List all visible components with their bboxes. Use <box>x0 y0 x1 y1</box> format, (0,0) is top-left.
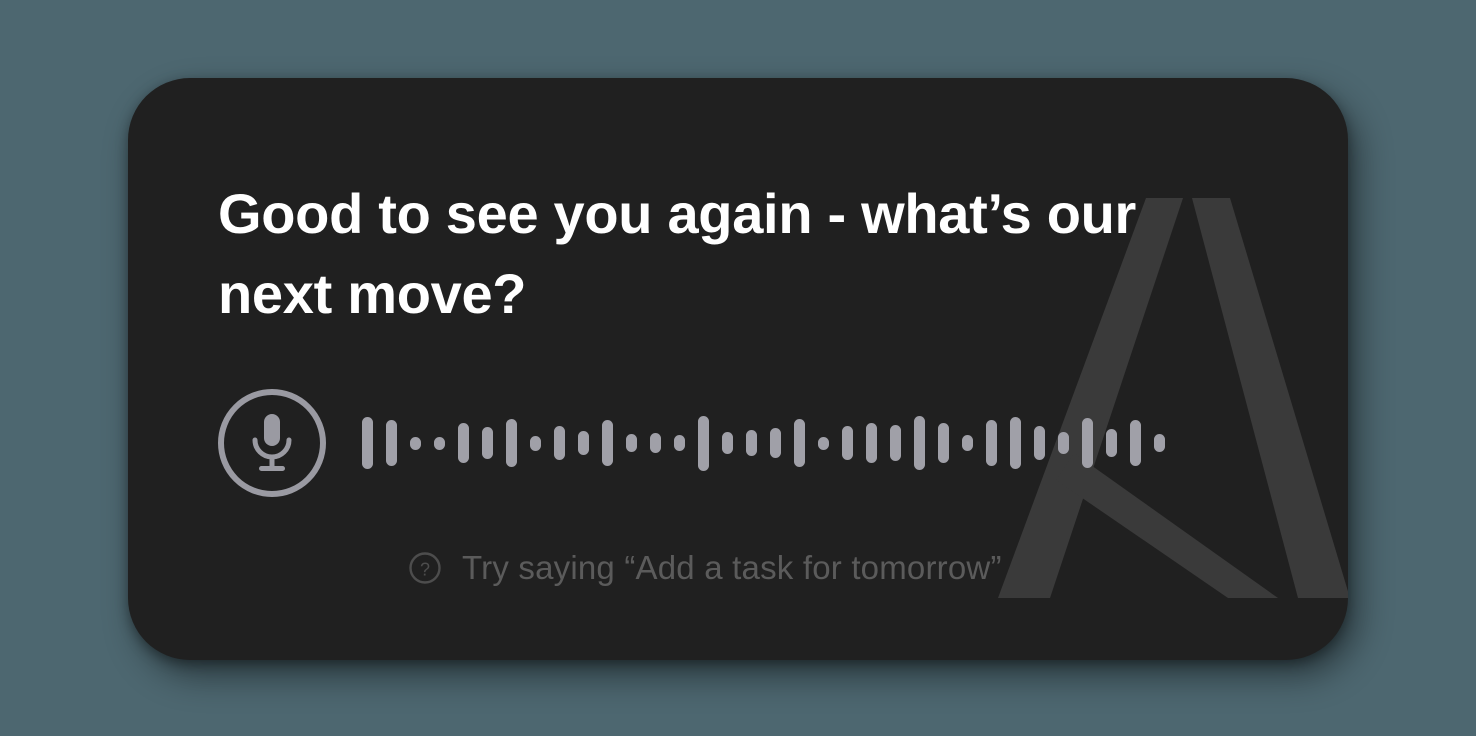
microphone-icon <box>249 412 295 474</box>
waveform-bar <box>890 425 901 461</box>
voice-waveform <box>362 398 1348 488</box>
waveform-bar <box>746 430 757 456</box>
waveform-bar <box>722 432 733 454</box>
voice-input-row <box>218 389 1348 497</box>
waveform-bar <box>530 436 541 451</box>
waveform-bar <box>482 427 493 459</box>
waveform-bar <box>842 426 853 460</box>
waveform-bar <box>674 435 685 451</box>
card-content: Good to see you again - what’s our next … <box>128 78 1348 660</box>
waveform-bar <box>962 435 973 451</box>
waveform-bar <box>770 428 781 458</box>
waveform-bar <box>362 417 373 469</box>
voice-assistant-card: Good to see you again - what’s our next … <box>128 78 1348 660</box>
waveform-bar <box>1010 417 1021 469</box>
waveform-bar <box>602 420 613 466</box>
page-title: Good to see you again - what’s our next … <box>218 174 1228 333</box>
waveform-bar <box>458 423 469 463</box>
waveform-bar <box>626 434 637 452</box>
screen: Good to see you again - what’s our next … <box>0 0 1476 736</box>
waveform-bar <box>1130 420 1141 466</box>
waveform-bar <box>1034 426 1045 460</box>
waveform-bar <box>506 419 517 467</box>
waveform-bar <box>1058 432 1069 454</box>
hint-row: ? Try saying “Add a task for tomorrow” <box>408 549 1348 587</box>
hint-text: Try saying “Add a task for tomorrow” <box>462 549 1002 587</box>
waveform-bar <box>434 437 445 450</box>
microphone-button[interactable] <box>218 389 326 497</box>
waveform-bar <box>866 423 877 463</box>
waveform-bar <box>914 416 925 470</box>
waveform-bar <box>1106 429 1117 457</box>
waveform-bar <box>650 433 661 453</box>
waveform-bar <box>938 423 949 463</box>
waveform-bar <box>986 420 997 466</box>
waveform-bar <box>554 426 565 460</box>
question-circle-icon: ? <box>408 551 442 585</box>
waveform-bar <box>794 419 805 467</box>
waveform-bar <box>818 437 829 450</box>
waveform-bar <box>1082 418 1093 468</box>
waveform-bar <box>578 431 589 455</box>
svg-text:?: ? <box>420 560 430 580</box>
waveform-bar <box>386 420 397 466</box>
waveform-bar <box>698 416 709 471</box>
waveform-bar <box>1154 434 1165 452</box>
waveform-bar <box>410 437 421 450</box>
